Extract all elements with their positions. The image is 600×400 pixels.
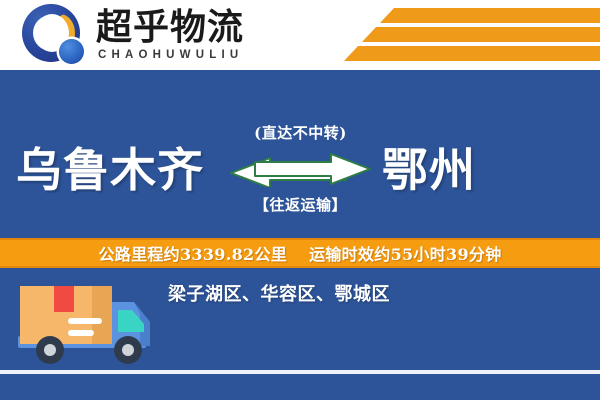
bottom-divider [0,370,600,374]
banner-body: 乌鲁木齐 (直达不中转) 【往返运输】 鄂州 公路里程约3339.82公里 运输 [0,70,600,400]
coverage-districts: 梁子湖区、华容区、鄂城区 [168,280,390,306]
brand-logo[interactable]: 超乎物流 CHAOHUWULIU [22,4,244,66]
route-section: 乌鲁木齐 (直达不中转) 【往返运输】 鄂州 [0,108,600,248]
circle-crescent-logo-icon [22,4,86,66]
brand-text: 超乎物流 CHAOHUWULIU [96,9,244,61]
route-note-top: (直达不中转) [228,122,373,143]
stripe-top [380,8,600,23]
double-headed-arrow-icon [228,151,373,187]
destination-city: 鄂州 [382,134,476,200]
orange-chevron-stripes-icon [330,0,600,70]
banner-header: 超乎物流 CHAOHUWULIU [0,0,600,70]
stripe-middle [362,27,600,42]
info-bar: 公路里程约3339.82公里 运输时效约55小时39分钟 [0,238,600,268]
delivery-truck-icon [14,274,164,374]
route-middle: (直达不中转) 【往返运输】 [228,108,373,248]
stripe-bottom [344,46,600,61]
duration-label: 运输时效约55小时39分钟 [309,241,501,265]
route-note-bottom: 【往返运输】 [228,194,373,215]
origin-city: 乌鲁木齐 [16,134,204,200]
brand-name-en: CHAOHUWULIU [98,49,244,61]
logo-accent-dot [59,39,84,64]
logistics-banner: 超乎物流 CHAOHUWULIU 乌鲁木齐 (直达不中转) [0,0,600,400]
brand-name-cn: 超乎物流 [96,9,244,47]
distance-label: 公路里程约3339.82公里 [98,241,287,265]
